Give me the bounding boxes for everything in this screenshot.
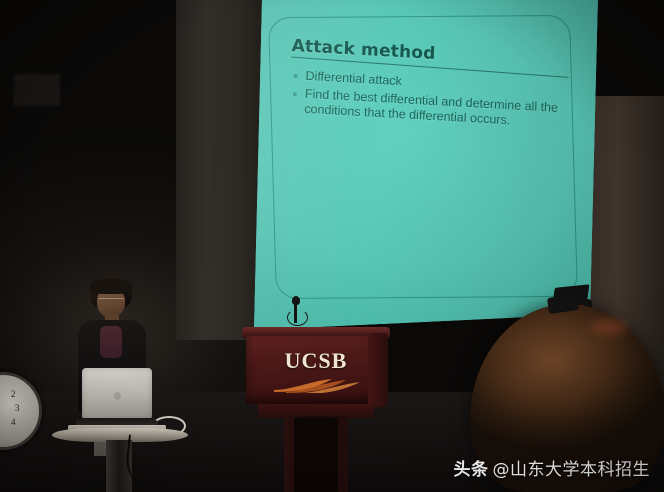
watermark-brand: 头条 bbox=[454, 460, 489, 480]
projection-screen: Attack method Differential attack Find t… bbox=[254, 0, 598, 330]
podium-logo-text: UCSB bbox=[246, 348, 386, 374]
podium-side-panel bbox=[368, 333, 388, 407]
laptop-lid bbox=[82, 368, 152, 420]
laptop-logo bbox=[114, 392, 121, 400]
microphone-icon bbox=[286, 296, 308, 326]
watermark-handle: @山东大学本科招生 bbox=[493, 460, 651, 480]
hair-highlight bbox=[592, 318, 628, 336]
presenter-laptop bbox=[80, 368, 156, 434]
conference-photo: 2 3 4 Attack method Differential attack … bbox=[0, 0, 664, 492]
speaker-inner-shirt bbox=[100, 326, 122, 358]
laptop-table bbox=[52, 428, 188, 492]
podium-front-panel: UCSB bbox=[246, 336, 386, 404]
ucsb-wave-icon bbox=[272, 377, 362, 393]
microphone-cable-loop bbox=[287, 309, 308, 326]
clock-number-2: 2 bbox=[11, 389, 16, 399]
podium-column-shadow bbox=[294, 418, 338, 492]
wall-panel bbox=[14, 74, 60, 106]
wall-band-left bbox=[176, 0, 262, 340]
speaker-hair-front bbox=[90, 278, 132, 294]
speaker-glasses bbox=[98, 298, 124, 304]
lecture-podium: UCSB bbox=[240, 327, 392, 492]
clock-number-4: 4 bbox=[11, 417, 16, 427]
clock-number-3: 3 bbox=[15, 403, 20, 413]
screen-light-falloff bbox=[254, 0, 598, 330]
watermark: 头条@山东大学本科招生 bbox=[454, 455, 651, 480]
